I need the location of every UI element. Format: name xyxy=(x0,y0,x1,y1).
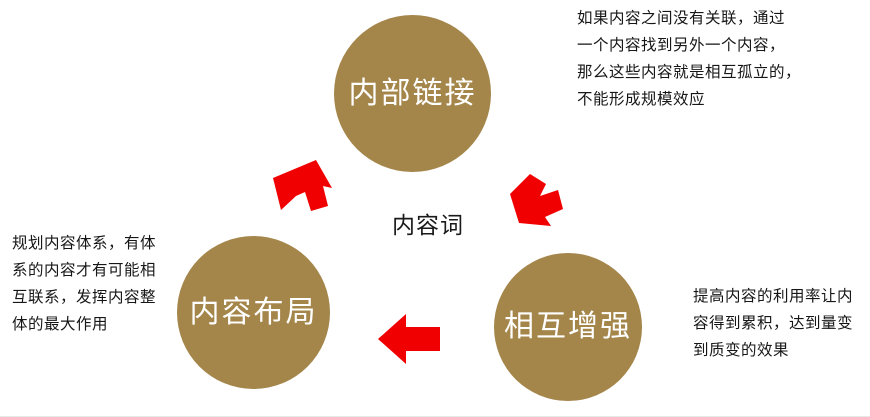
node-mutual-reinforcement[interactable]: 相互增强 xyxy=(494,253,642,401)
diagram-canvas: 内部链接 内容布局 相互增强 内容词 如果内容之间没有关联，通过 一个内容找到另… xyxy=(0,0,870,417)
node-internal-links-label: 内部链接 xyxy=(349,79,477,109)
arrow-up-right-icon xyxy=(270,158,350,230)
node-content-layout-label: 内容布局 xyxy=(190,298,318,328)
annotation-internal-links: 如果内容之间没有关联，通过 一个内容找到另外一个内容， 那么这些内容就是相互孤立… xyxy=(577,5,867,113)
node-content-layout[interactable]: 内容布局 xyxy=(177,236,330,389)
center-label: 内容词 xyxy=(373,206,483,240)
annotation-mutual-reinforcement: 提高内容的利用率让内 容得到累积，达到量变 到质变的效果 xyxy=(693,283,863,364)
node-mutual-reinforcement-label: 相互增强 xyxy=(504,312,632,342)
annotation-content-layout: 规划内容体系，有体 系的内容才有可能相 互联系，发挥内容整 体的最大作用 xyxy=(12,230,172,338)
arrow-left-icon xyxy=(376,310,454,368)
node-internal-links[interactable]: 内部链接 xyxy=(334,15,491,172)
arrow-down-right-icon xyxy=(506,170,584,240)
